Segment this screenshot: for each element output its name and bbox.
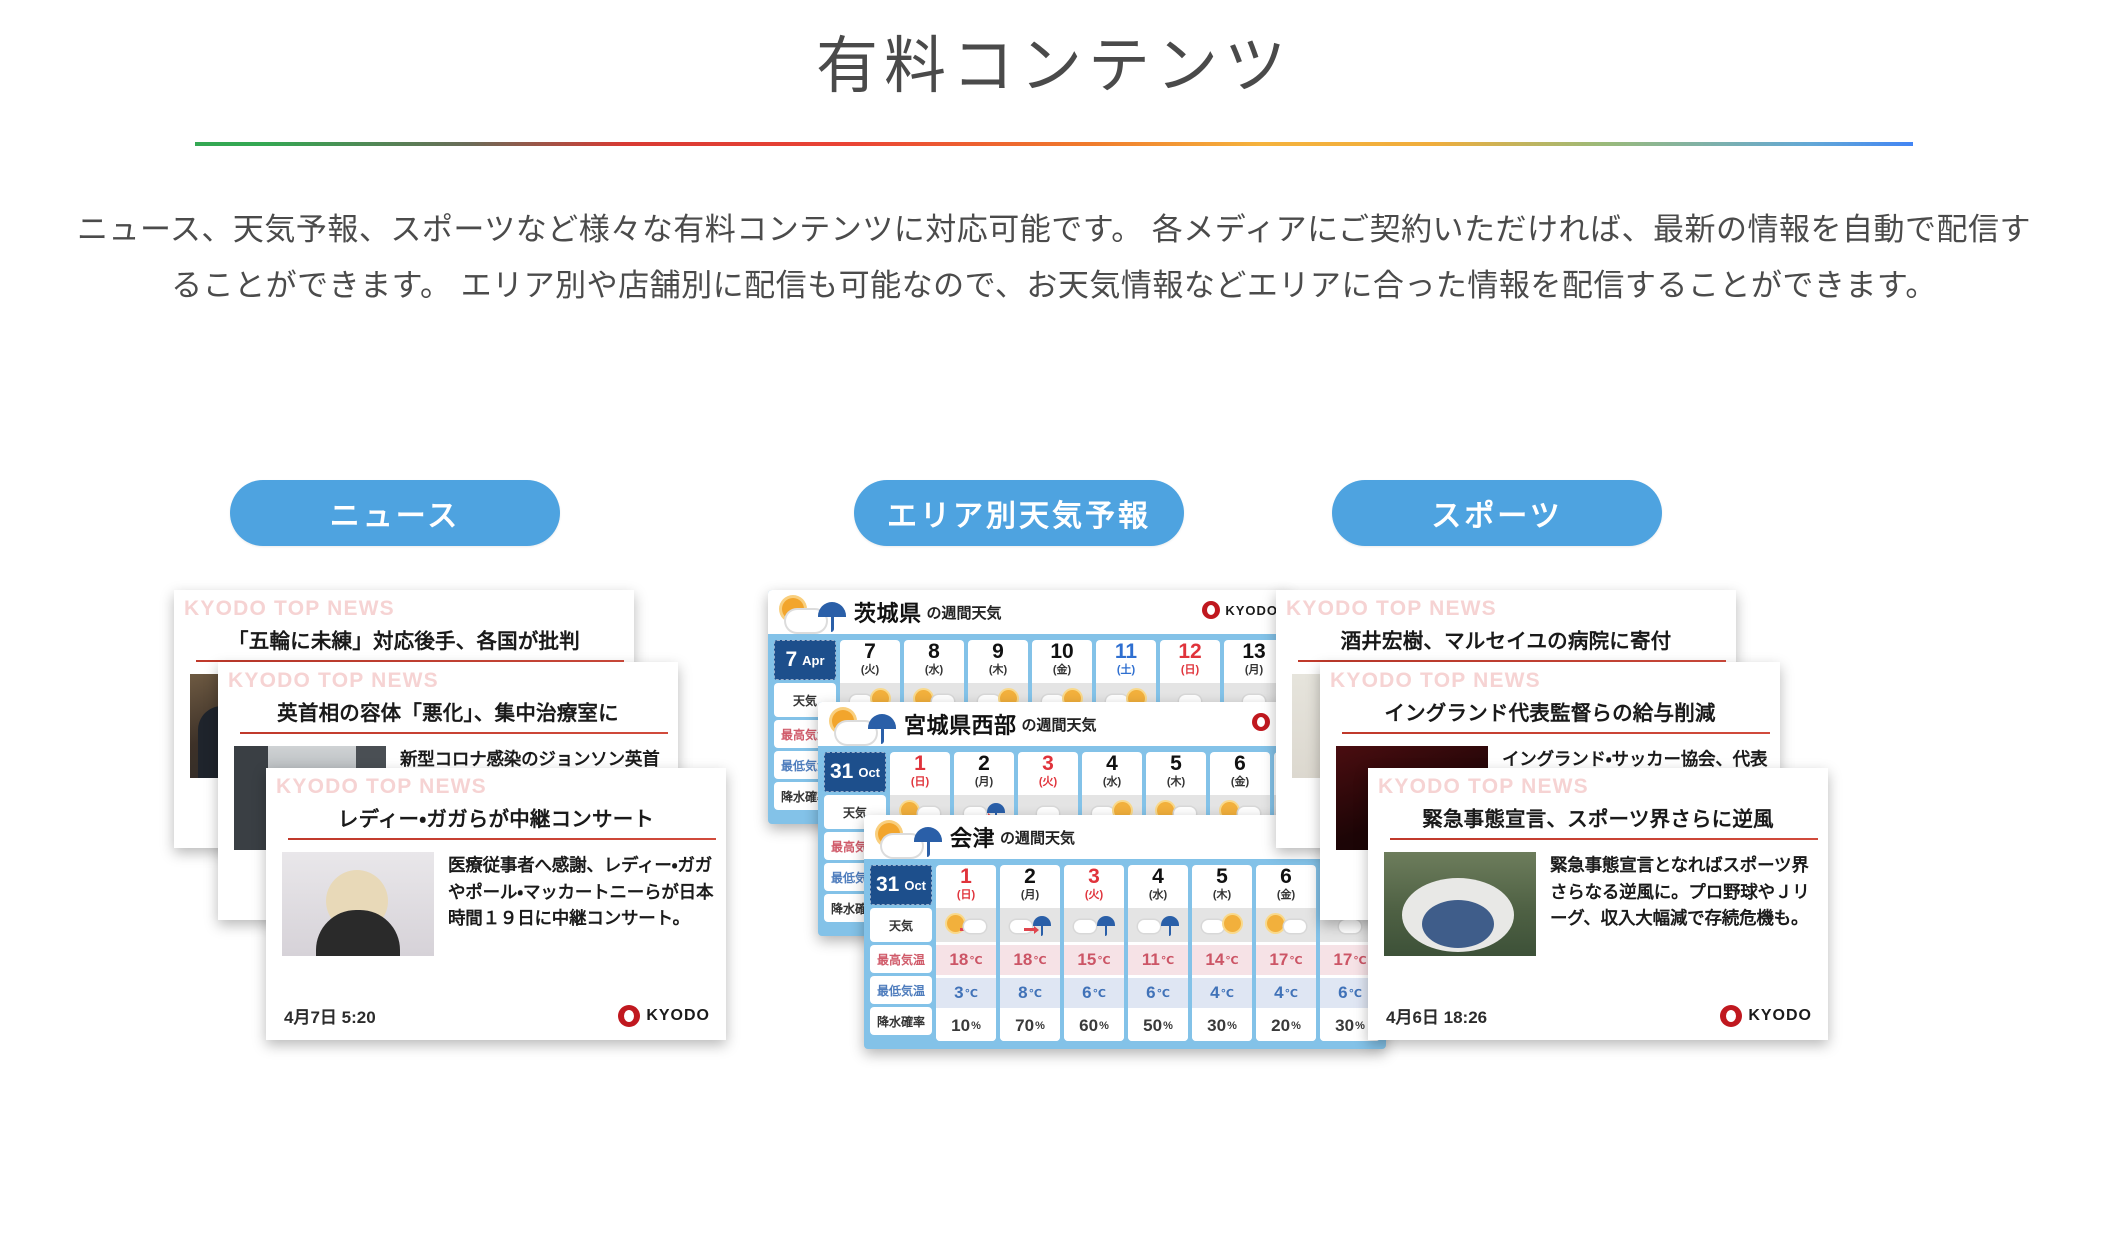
kyodo-mark-icon [1202, 601, 1220, 619]
weather-day-number: 9 [968, 641, 1028, 662]
weather-day-header: 7(火) [840, 640, 900, 680]
description-line-1: ニュース、天気予報、スポーツなど様々な有料コンテンツに対応可能です。 各メディア… [44, 202, 2064, 258]
weather-day-header: 9(木) [968, 640, 1028, 680]
weather-day-header: 1(日) [890, 752, 950, 792]
weather-precip-prob: 30% [1192, 1011, 1252, 1041]
weather-day-column[interactable]: 1(日)18℃3℃10% [936, 865, 996, 1041]
weather-card-header: 茨城県 の週間天気 KYODO [768, 590, 1290, 634]
weather-day-column[interactable]: 5(木)14℃4℃30% [1192, 865, 1252, 1041]
weather-day-weekday: (月) [954, 774, 1014, 791]
weather-day-header: 2(月) [954, 752, 1014, 792]
weather-day-weekday: (水) [1128, 887, 1188, 904]
weather-date-badge: 31 Oct [824, 752, 886, 792]
row-label-high: 最高気温 [870, 945, 932, 973]
weather-day-number: 10 [1032, 641, 1092, 662]
weather-day-weekday: (木) [968, 662, 1028, 679]
weather-day-number: 12 [1160, 641, 1220, 662]
news-brand-label: KYODO TOP NEWS [1330, 669, 1541, 693]
pill-sports[interactable]: スポーツ [1332, 480, 1662, 546]
weather-day-number: 4 [1082, 753, 1142, 774]
news-headline: 英首相の容体「悪化」、集中治療室に [218, 696, 678, 726]
weather-day-header: 8(水) [904, 640, 964, 680]
news-brand-label: KYODO TOP NEWS [228, 669, 439, 693]
weather-condition-icon [936, 908, 996, 942]
weather-day-header: 5(木) [1192, 865, 1252, 905]
weather-region-name: 会津 [950, 821, 995, 853]
date-badge-day: 7 [785, 648, 797, 672]
pill-news[interactable]: ニュース [230, 480, 560, 546]
news-card[interactable]: KYODO TOP NEWS レディー・ガガらが中継コンサート 医療従事者へ感謝… [266, 768, 726, 1040]
weather-high-temp: 15℃ [1064, 945, 1124, 975]
date-badge-day: 31 [876, 873, 899, 897]
weather-day-header: 6(金) [1256, 865, 1316, 905]
kyodo-mark-icon [1252, 713, 1270, 731]
weather-day-weekday: (金) [1210, 774, 1270, 791]
page-title: 有料コンテンツ [0, 0, 2108, 106]
page-description: ニュース、天気予報、スポーツなど様々な有料コンテンツに対応可能です。 各メディア… [44, 202, 2064, 315]
row-label-precip: 降水確率 [870, 1007, 932, 1035]
weather-day-weekday: (金) [1256, 887, 1316, 904]
weather-precip-prob: 10% [936, 1011, 996, 1041]
weather-day-column[interactable]: 2(月)18℃8℃70% [1000, 865, 1060, 1041]
weather-date-badge: 31 Oct [870, 865, 932, 905]
weather-day-header: 2(月) [1000, 865, 1060, 905]
weather-condition-icon [1192, 908, 1252, 942]
weather-day-column[interactable]: 3(火)15℃6℃60% [1064, 865, 1124, 1041]
weather-day-number: 5 [1146, 753, 1206, 774]
news-brand-label: KYODO TOP NEWS [276, 775, 487, 799]
news-thumbnail-image [1384, 852, 1536, 956]
weather-grid: 31 Oct 天気 最高気温 最低気温 降水確率 1(日)18℃3℃10%2(月… [864, 859, 1386, 1041]
weather-day-header: 1(日) [936, 865, 996, 905]
content-columns: ニュース KYODO TOP NEWS 「五輪に未練」対応後手、各国が批判 緊急… [0, 480, 2108, 1180]
news-summary: 緊急事態宣言となればスポーツ界さらなる逆風に。プロ野球やＪリーグ、収入大幅減で存… [1550, 852, 1816, 956]
news-footer: 4月6日 18:26 KYODO [1386, 1003, 1812, 1028]
weather-day-number: 5 [1192, 866, 1252, 887]
weather-precip-prob: 70% [1000, 1011, 1060, 1041]
kyodo-logo-text: KYODO [646, 1007, 710, 1025]
weather-day-number: 8 [904, 641, 964, 662]
weather-date-badge: 7 Apr [774, 640, 836, 680]
weather-high-temp: 17℃ [1256, 945, 1316, 975]
paid-content-page: 有料コンテンツ ニュース、天気予報、スポーツなど様々な有料コンテンツに対応可能で… [0, 0, 2108, 1246]
weather-day-header: 3(火) [1064, 865, 1124, 905]
weather-day-number: 2 [954, 753, 1014, 774]
weather-low-temp: 8℃ [1000, 978, 1060, 1008]
news-headline: 「五輪に未練」対応後手、各国が批判 [174, 624, 634, 654]
weather-row-labels: 31 Oct 天気 最高気温 最低気温 降水確率 [870, 865, 932, 1041]
weather-day-weekday: (金) [1032, 662, 1092, 679]
weather-day-header: 4(水) [1082, 752, 1142, 792]
date-badge-month: Oct [904, 878, 926, 893]
news-timestamp: 4月7日 5:20 [284, 1003, 376, 1028]
row-label-low: 最低気温 [870, 976, 932, 1004]
weather-condition-icon [1064, 908, 1124, 942]
weather-low-temp: 4℃ [1256, 978, 1316, 1008]
weather-day-header: 11(土) [1096, 640, 1156, 680]
news-timestamp: 4月6日 18:26 [1386, 1003, 1487, 1028]
weather-day-weekday: (火) [1018, 774, 1078, 791]
weather-day-number: 13 [1224, 641, 1284, 662]
weather-day-weekday: (日) [1160, 662, 1220, 679]
weather-day-number: 3 [1018, 753, 1078, 774]
weather-low-temp: 6℃ [1128, 978, 1188, 1008]
weather-day-weekday: (水) [1082, 774, 1142, 791]
weather-day-header: 13(月) [1224, 640, 1284, 680]
sun-cloud-umbrella-icon [826, 706, 900, 752]
weather-high-temp: 18℃ [1000, 945, 1060, 975]
headline-rule [240, 732, 668, 734]
sun-cloud-umbrella-icon [776, 594, 850, 640]
weather-day-columns: 1(日)18℃3℃10%2(月)18℃8℃70%3(火)15℃6℃60%4(水)… [936, 865, 1380, 1041]
weather-day-number: 6 [1256, 866, 1316, 887]
sports-card[interactable]: KYODO TOP NEWS 緊急事態宣言、スポーツ界さらに逆風 緊急事態宣言と… [1368, 768, 1828, 1040]
description-line-2: ることができます。 エリア別や店舗別に配信も可能なので、お天気情報などエリアに合… [44, 258, 2064, 314]
weather-precip-prob: 60% [1064, 1011, 1124, 1041]
weather-day-weekday: (水) [904, 662, 964, 679]
weather-day-number: 3 [1064, 866, 1124, 887]
news-headline: 酒井宏樹、マルセイユの病院に寄付 [1276, 624, 1736, 654]
weather-condition-icon [1256, 908, 1316, 942]
news-thumbnail-image [282, 852, 434, 956]
weather-day-number: 2 [1000, 866, 1060, 887]
headline-rule [1390, 838, 1818, 840]
weather-day-weekday: (日) [890, 774, 950, 791]
news-body: 医療従事者へ感謝、レディー・ガガやポール・マッカートニーらが日本時間１９日に中継… [282, 852, 714, 956]
kyodo-logo-text: KYODO [1225, 603, 1278, 618]
weather-high-temp: 14℃ [1192, 945, 1252, 975]
weather-high-temp: 11℃ [1128, 945, 1188, 975]
kyodo-mark-icon [1720, 1005, 1742, 1027]
news-headline: イングランド代表監督らの給与削減 [1320, 696, 1780, 726]
kyodo-logo: KYODO [1720, 1005, 1812, 1027]
weather-day-header: 4(水) [1128, 865, 1188, 905]
news-headline: レディー・ガガらが中継コンサート [266, 802, 726, 832]
weather-region-name: 茨城県 [854, 596, 922, 628]
weather-day-weekday: (火) [840, 662, 900, 679]
weather-day-header: 5(木) [1146, 752, 1206, 792]
column-news: ニュース KYODO TOP NEWS 「五輪に未練」対応後手、各国が批判 緊急… [228, 480, 808, 546]
news-footer: 4月7日 5:20 KYODO [284, 1003, 710, 1028]
weather-day-header: 12(日) [1160, 640, 1220, 680]
column-sports: スポーツ KYODO TOP NEWS 酒井宏樹、マルセイユの病院に寄付 サッカ… [1330, 480, 1910, 546]
weather-region-suffix: の週間天気 [1022, 714, 1097, 735]
weather-day-header: 6(金) [1210, 752, 1270, 792]
news-brand-label: KYODO TOP NEWS [184, 597, 395, 621]
weather-day-header: 10(金) [1032, 640, 1092, 680]
date-badge-month: Oct [858, 765, 880, 780]
weather-day-weekday: (土) [1096, 662, 1156, 679]
weather-card[interactable]: 会津 の週間天気 KYODO 31 Oct 天気 最高気温 [864, 815, 1386, 1049]
news-body: 緊急事態宣言となればスポーツ界さらなる逆風に。プロ野球やＪリーグ、収入大幅減で存… [1384, 852, 1816, 956]
pill-weather[interactable]: エリア別天気予報 [854, 480, 1184, 546]
column-weather: エリア別天気予報 茨城県 の週間天気 KYODO [780, 480, 1360, 546]
title-gradient-divider [195, 142, 1913, 146]
date-badge-day: 31 [830, 760, 853, 784]
kyodo-mark-icon [618, 1005, 640, 1027]
weather-card-header: 宮城県西部 の週間天気 KYODO [818, 702, 1340, 746]
weather-region-suffix: の週間天気 [1000, 827, 1075, 848]
news-summary: 医療従事者へ感謝、レディー・ガガやポール・マッカートニーらが日本時間１９日に中継… [448, 852, 714, 956]
weather-region-name: 宮城県西部 [904, 708, 1017, 740]
weather-day-number: 1 [890, 753, 950, 774]
weather-low-temp: 6℃ [1064, 978, 1124, 1008]
weather-low-temp: 4℃ [1192, 978, 1252, 1008]
weather-day-weekday: (木) [1192, 887, 1252, 904]
weather-day-number: 4 [1128, 866, 1188, 887]
weather-day-column[interactable]: 4(水)11℃6℃50% [1128, 865, 1188, 1041]
date-badge-month: Apr [802, 653, 824, 668]
row-label-weather: 天気 [870, 908, 932, 942]
kyodo-logo: KYODO [618, 1005, 710, 1027]
weather-region-suffix: の週間天気 [927, 602, 1002, 623]
weather-condition-icon [1000, 908, 1060, 942]
weather-day-number: 11 [1096, 641, 1156, 662]
weather-day-number: 7 [840, 641, 900, 662]
news-brand-label: KYODO TOP NEWS [1378, 775, 1589, 799]
headline-rule [1342, 732, 1770, 734]
weather-day-weekday: (月) [1000, 887, 1060, 904]
weather-high-temp: 18℃ [936, 945, 996, 975]
news-headline: 緊急事態宣言、スポーツ界さらに逆風 [1368, 802, 1828, 832]
weather-day-header: 3(火) [1018, 752, 1078, 792]
weather-day-weekday: (火) [1064, 887, 1124, 904]
weather-day-number: 1 [936, 866, 996, 887]
headline-rule [288, 838, 716, 840]
weather-precip-prob: 50% [1128, 1011, 1188, 1041]
news-brand-label: KYODO TOP NEWS [1286, 597, 1497, 621]
weather-day-number: 6 [1210, 753, 1270, 774]
weather-condition-icon [1128, 908, 1188, 942]
weather-day-weekday: (月) [1224, 662, 1284, 679]
weather-day-weekday: (木) [1146, 774, 1206, 791]
weather-precip-prob: 20% [1256, 1011, 1316, 1041]
weather-day-weekday: (日) [936, 887, 996, 904]
kyodo-logo: KYODO [1202, 601, 1278, 619]
weather-low-temp: 3℃ [936, 978, 996, 1008]
weather-day-column[interactable]: 6(金)17℃4℃20% [1256, 865, 1316, 1041]
sun-cloud-umbrella-icon [872, 819, 946, 865]
kyodo-logo-text: KYODO [1748, 1007, 1812, 1025]
